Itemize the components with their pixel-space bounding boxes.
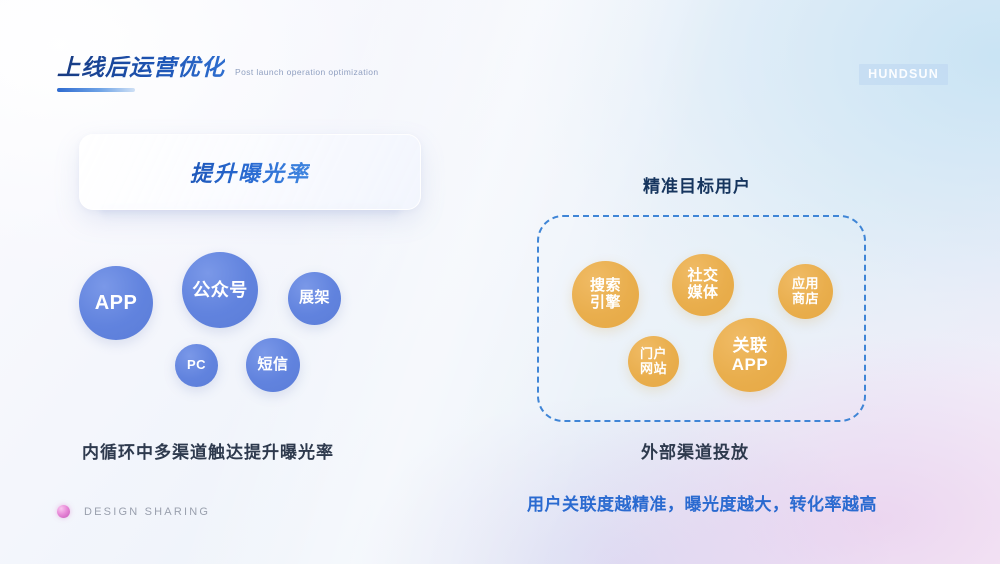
- external-channel-bubble-label: 关联 APP: [732, 336, 768, 374]
- external-channel-bubble-3[interactable]: 门户 网站: [628, 336, 679, 387]
- channel-bubble-4[interactable]: 短信: [246, 338, 300, 392]
- channel-bubble-label: PC: [187, 358, 206, 373]
- channel-bubble-label: APP: [95, 292, 138, 314]
- page-subtitle: Post launch operation optimization: [235, 67, 379, 79]
- slide-header: 上线后运营优化 Post launch operation optimizati…: [57, 56, 379, 92]
- external-channel-bubble-label: 应用 商店: [792, 277, 819, 306]
- sphere-icon: [57, 505, 70, 518]
- external-channel-bubble-label: 搜索 引擎: [590, 278, 621, 312]
- exposure-card[interactable]: 提升曝光率: [79, 134, 421, 210]
- title-row: 上线后运营优化 Post launch operation optimizati…: [57, 56, 379, 79]
- channel-bubble-label: 展架: [299, 290, 330, 307]
- exposure-card-label: 提升曝光率: [190, 156, 310, 188]
- right-caption: 外部渠道投放: [641, 438, 749, 463]
- external-channel-bubble-2[interactable]: 应用 商店: [778, 264, 833, 319]
- title-underline: [57, 88, 135, 92]
- channel-bubble-2[interactable]: 展架: [288, 272, 341, 325]
- left-caption: 内循环中多渠道触达提升曝光率: [82, 438, 334, 463]
- external-channel-bubble-label: 门户 网站: [640, 347, 667, 376]
- tagline: 用户关联度越精准，曝光度越大，转化率越高: [527, 490, 877, 515]
- footer: DESIGN SHARING: [57, 505, 210, 518]
- external-channel-bubble-0[interactable]: 搜索 引擎: [572, 261, 639, 328]
- external-channel-bubble-label: 社交 媒体: [687, 268, 718, 302]
- channel-bubble-label: 短信: [257, 357, 288, 374]
- channel-bubble-1[interactable]: 公众号: [182, 252, 258, 328]
- hundsun-logo: HUNDSUN: [859, 64, 948, 85]
- footer-label: DESIGN SHARING: [84, 506, 210, 518]
- right-panel-heading: 精准目标用户: [643, 172, 751, 197]
- external-channel-bubble-4[interactable]: 关联 APP: [713, 318, 787, 392]
- channel-bubble-label: 公众号: [192, 280, 248, 300]
- channel-bubble-3[interactable]: PC: [175, 344, 218, 387]
- page-title: 上线后运营优化: [57, 56, 225, 79]
- channel-bubble-0[interactable]: APP: [79, 266, 153, 340]
- external-channel-bubble-1[interactable]: 社交 媒体: [672, 254, 734, 316]
- slide-canvas: 上线后运营优化 Post launch operation optimizati…: [0, 0, 1000, 564]
